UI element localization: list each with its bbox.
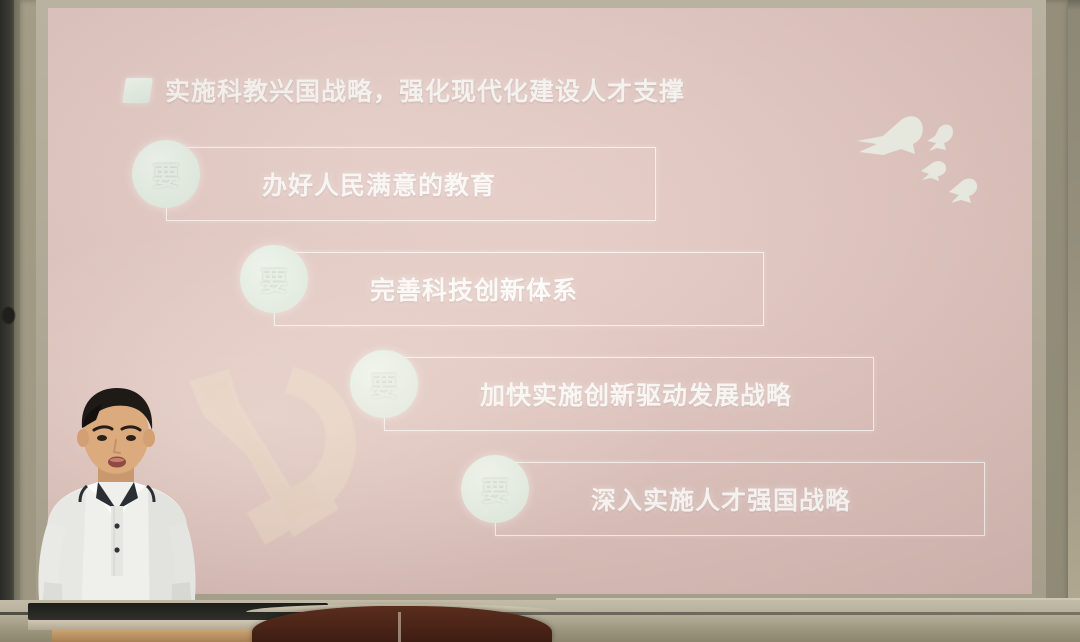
list-item[interactable]: 要 深入实施人才强国战略	[495, 462, 985, 536]
row-badge-text: 要	[371, 365, 398, 404]
chalkboard-knob	[2, 307, 15, 324]
slide-title: 实施科教兴国战略，强化现代化建设人才支撑	[124, 72, 685, 108]
list-item[interactable]: 要 完善科技创新体系	[274, 252, 764, 326]
screenshot-stage: 标准化自招	[0, 0, 1080, 642]
row-badge-circle: 要	[240, 245, 308, 313]
row-label: 深入实施人才强国战略	[591, 481, 851, 517]
row-badge-circle: 要	[132, 140, 200, 208]
podium-panel-split	[398, 612, 401, 642]
row-label: 办好人民满意的教育	[262, 166, 496, 202]
row-badge-text: 要	[261, 260, 288, 299]
list-item[interactable]: 要 加快实施创新驱动发展战略	[384, 357, 874, 431]
slide-title-text: 实施科教兴国战略，强化现代化建设人才支撑	[165, 72, 685, 108]
square-bullet-icon	[122, 78, 153, 103]
row-badge-circle: 要	[350, 350, 418, 418]
row-badge-text: 要	[153, 155, 180, 194]
flying-doves-icon	[843, 108, 1018, 213]
row-badge-circle: 要	[461, 455, 529, 523]
row-label: 完善科技创新体系	[370, 271, 578, 307]
row-label: 加快实施创新驱动发展战略	[480, 376, 792, 412]
row-badge-text: 要	[482, 470, 509, 509]
list-item[interactable]: 要 办好人民满意的教育	[166, 147, 656, 221]
